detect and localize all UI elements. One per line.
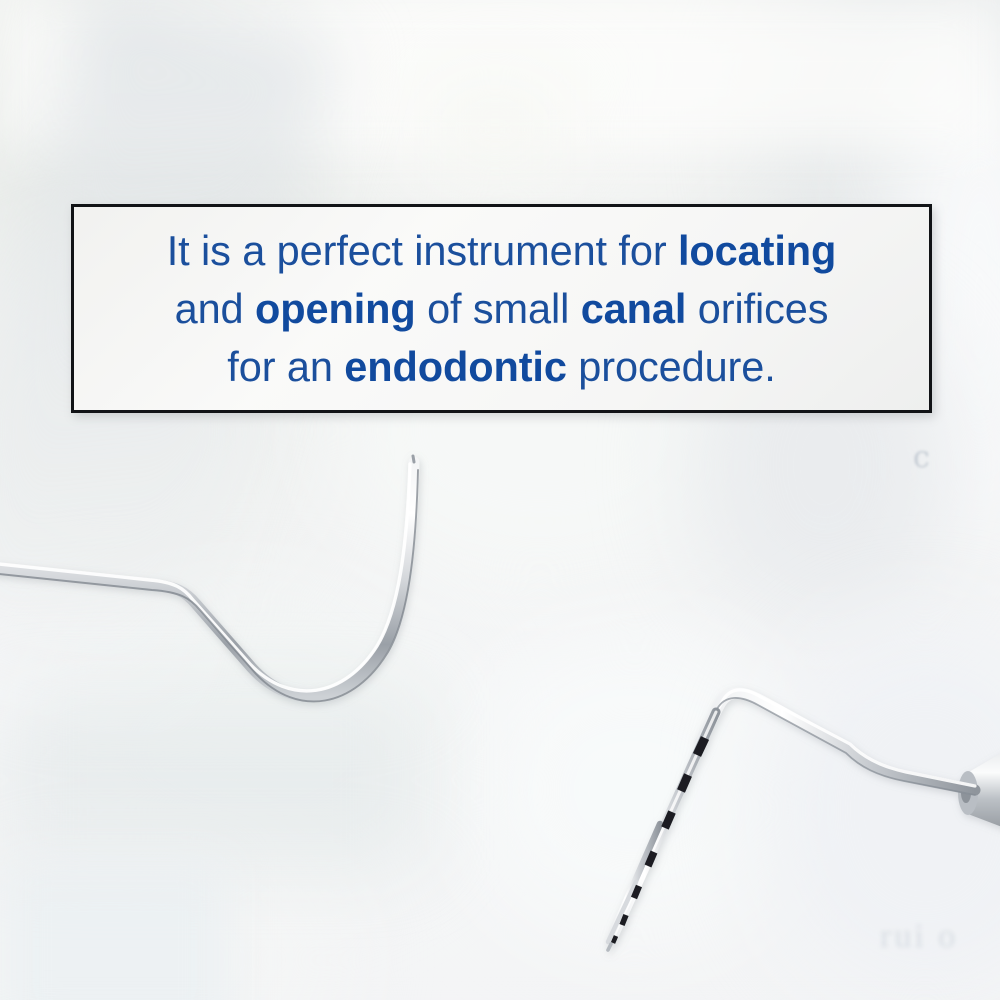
callout-plain: It is a perfect instrument for xyxy=(167,227,678,274)
callout-plain: procedure. xyxy=(567,343,776,390)
slide-canvas: c rui o xyxy=(0,0,1000,1000)
right-graduated-probe xyxy=(608,690,1000,950)
callout-plain: of small xyxy=(416,285,581,332)
callout-plain: for an xyxy=(227,343,344,390)
marketing-claim-box: It is a perfect instrument for locatinga… xyxy=(71,204,932,413)
callout-line-3: for an endodontic procedure. xyxy=(167,338,837,396)
callout-plain: orifices xyxy=(686,285,828,332)
left-explorer-instrument xyxy=(0,456,418,701)
callout-text: It is a perfect instrument for locatinga… xyxy=(153,222,851,396)
callout-plain: and xyxy=(175,285,255,332)
callout-emphasis: canal xyxy=(581,285,687,332)
dental-instruments-group xyxy=(0,0,1000,1000)
callout-emphasis: opening xyxy=(255,285,416,332)
callout-line-1: It is a perfect instrument for locating xyxy=(167,222,837,280)
callout-line-2: and opening of small canal orifices xyxy=(167,280,837,338)
callout-emphasis: endodontic xyxy=(344,343,567,390)
callout-emphasis: locating xyxy=(678,227,836,274)
